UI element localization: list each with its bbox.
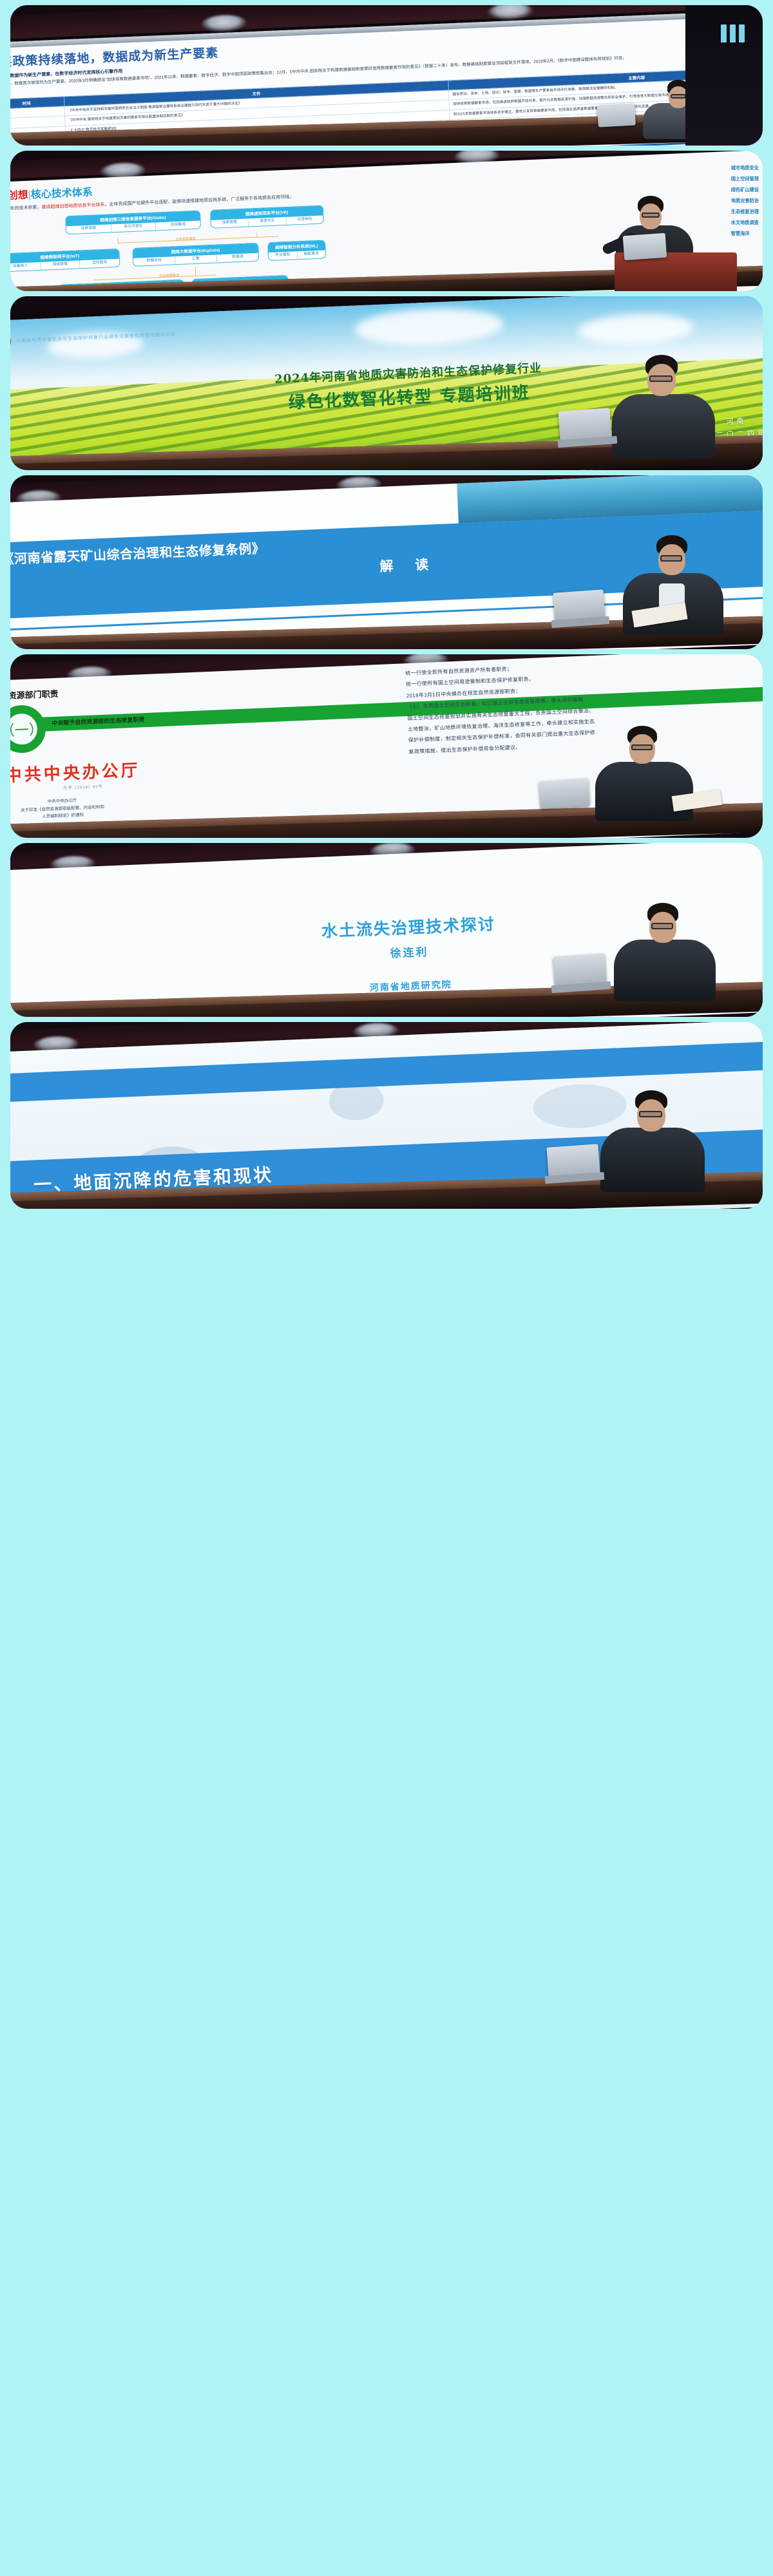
- laptop-screen: [597, 104, 636, 128]
- arch-cell: 多元可视化: [111, 222, 156, 232]
- arch-cell: 实时服务: [80, 258, 120, 268]
- organizer-line: 河南省地质灾害防治与生态保护修复行业绿色化数智化转型专题培训班: [16, 331, 176, 344]
- arch-cell: 数据湖: [216, 252, 258, 262]
- document-issuer-title: 中共中央办公厅: [10, 757, 141, 787]
- arch-cell: 场景管理: [211, 218, 249, 228]
- photo-card-land-subsidence[interactable]: 一、地面沉降的危害和现状: [10, 1022, 763, 1209]
- domain-item: 智慧海洋: [731, 231, 759, 237]
- speaker-glasses: [671, 94, 686, 99]
- arch-cell: 设备接入: [10, 261, 41, 271]
- lead-prefix: 经过近三十年的技术积累，: [10, 205, 42, 213]
- speaker-torso: [595, 762, 693, 821]
- domain-item: 绿色矿山建设: [731, 187, 759, 193]
- speaker-glasses: [649, 375, 673, 382]
- heading-topic: 核心技术体系: [31, 187, 93, 200]
- arch-box-iot[interactable]: 超维物联网平台(IoT) 设备接入 网络管理 实时服务: [10, 249, 120, 272]
- arch-cell: 智能算法: [296, 250, 325, 259]
- domain-item: 生态修复治理: [731, 209, 759, 215]
- arch-box-ml[interactable]: 超维智能分析系统(ML) 专业模型 智能算法: [267, 240, 326, 261]
- arch-connector: [195, 267, 196, 276]
- photo-card-mine-regulation[interactable]: 《河南省露天矿山综合治理和生态修复条例》 解 读 河南省自然资源厅国土空间生态修…: [10, 475, 763, 649]
- speaker-figure: [608, 352, 718, 459]
- arch-cell: 漫游交互: [248, 216, 286, 226]
- lead-highlight: 建成超维创想地质信息平台体系: [42, 203, 105, 210]
- arch-cell: 沉浸体验: [285, 215, 323, 225]
- speaker-torso: [600, 1128, 705, 1192]
- arch-box-globe[interactable]: 超维创想三维信息服务平台(Globe) 场景管理 多元可视化 应用集成: [65, 211, 201, 235]
- arch-cell: 数据总线: [133, 256, 175, 266]
- speaker-glasses: [651, 923, 673, 929]
- speaker-glasses: [639, 1111, 662, 1117]
- document-meta: 中共中央办公厅 关于印发《自然资源部职能配置、内设机构和 人员编制规定》的通知: [10, 795, 124, 823]
- photo-card-architecture-slide[interactable]: 超维创想|核心技术体系 经过近三十年的技术积累，建成超维创想地质信息平台体系，主…: [10, 151, 763, 291]
- photo-card-training-banner[interactable]: 河南省地质灾害防治与生态保护修复行业绿色化数智化转型专题培训班 2024年河南省…: [10, 296, 763, 470]
- arch-cell: 网络管理: [40, 260, 80, 270]
- arch-cell: 场景管理: [66, 224, 111, 234]
- application-domain-list: 城市地质安全 国土空间管理 绿色矿山建设 地质灾害防治 生态修复治理 水文地质调…: [731, 165, 759, 241]
- duties-kicker: 自然资源部门职责: [10, 687, 59, 702]
- ordinal-ring-icon: （一）: [10, 705, 47, 754]
- laptop-screen: [553, 953, 606, 986]
- domain-item: 地质灾害防治: [731, 198, 759, 204]
- speaker-figure: [611, 902, 718, 1001]
- speaker-torso: [612, 394, 715, 459]
- speaker-figure: [598, 1089, 707, 1192]
- photo-card-department-duties[interactable]: 自然资源部门职责 中央赋予自然资源部的生态修复职责 （一） 中共中央办公厅 厅字…: [10, 654, 763, 838]
- arch-cell: 应用集成: [155, 220, 200, 230]
- led-indicator-bars: [721, 24, 745, 43]
- heading-brand: 超维创想: [10, 189, 28, 202]
- arch-cell: 汇聚: [175, 254, 216, 264]
- presenter-glasses: [642, 213, 660, 218]
- banner-place: 河南 · 新郑: [726, 413, 763, 426]
- arch-box-vr[interactable]: 超维虚拟现实平台(VR) 场景管理 漫游交互 沉浸体验: [210, 205, 324, 229]
- speaker-glasses: [631, 744, 653, 750]
- laptop-screen: [539, 778, 590, 808]
- domain-item: 水文地质调查: [731, 220, 759, 226]
- green-bar-label: 中央赋予自然资源部的生态修复职责: [52, 715, 144, 727]
- organization-logo-icon: [10, 333, 12, 350]
- podium-laptop: [623, 233, 667, 261]
- ordinal-label: （一）: [10, 718, 44, 741]
- arch-box-bigdata[interactable]: 超维大数据平台(BigData) 数据总线 汇聚 数据湖: [133, 243, 260, 267]
- domain-item: 国土空间管理: [731, 176, 759, 182]
- photo-card-soil-erosion[interactable]: 水土流失治理技术探讨 徐连利 河南省地质研究院 2024 年 3 月: [10, 843, 763, 1017]
- laptop-screen: [546, 1144, 600, 1177]
- photo-feed: 顶层政策持续落地，数据成为新生产要素 政策方向，数据作为新生产要素，在数字经济时…: [0, 0, 773, 2576]
- arch-cell: 专业模型: [269, 251, 297, 260]
- laptop-screen: [558, 408, 611, 440]
- domain-item: 城市地质安全: [731, 165, 759, 171]
- document-stamp-number: 厅字〔2018〕60号: [64, 783, 103, 791]
- speaker-glasses: [660, 555, 682, 562]
- duties-text-column: 统一行使全民所有自然资源资产所有者职责； 统一行使所有国土空间用途管制和生态保护…: [405, 654, 763, 758]
- speaker-torso: [614, 940, 716, 1001]
- photo-card-policy-slide[interactable]: 顶层政策持续落地，数据成为新生产要素 政策方向，数据作为新生产要素，在数字经济时…: [10, 5, 763, 146]
